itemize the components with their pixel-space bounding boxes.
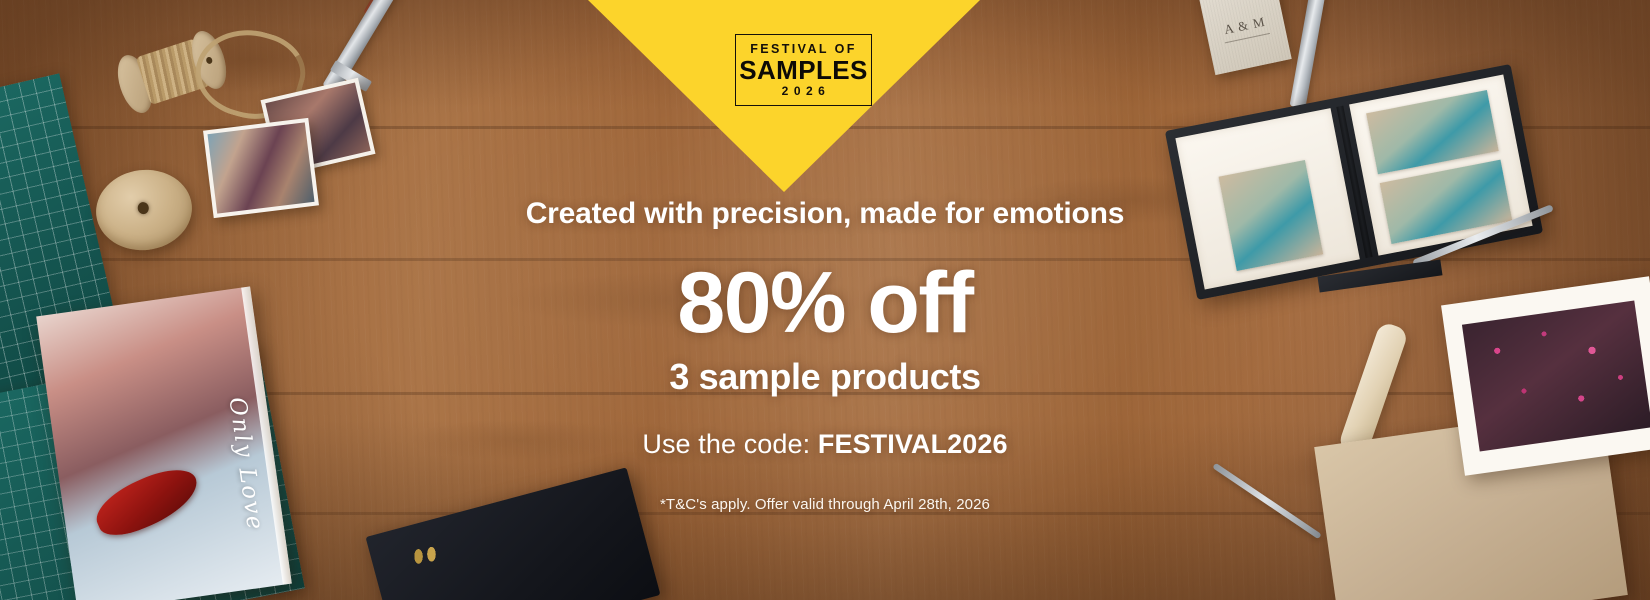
offer-subheadline: 3 sample products (0, 356, 1650, 397)
terms-fineprint: *T&C's apply. Offer valid through April … (0, 496, 1650, 513)
promo-code-value: FESTIVAL2026 (818, 429, 1008, 459)
festival-logo: FESTIVAL OF SAMPLES 2026 (735, 34, 872, 106)
promo-copy-block: Created with precision, made for emotion… (0, 196, 1650, 513)
album-photo-2 (1366, 90, 1498, 174)
promo-code-prefix: Use the code: (642, 429, 818, 459)
promo-banner: Only Love A & M FESTIVAL OF SAMPLES 2026 (0, 0, 1650, 600)
promo-code-line: Use the code: FESTIVAL2026 (0, 429, 1650, 460)
logo-festival-of: FESTIVAL OF (750, 43, 857, 56)
gold-leaf-emblem-icon (414, 544, 436, 568)
discount-headline: 80% off (0, 260, 1650, 346)
tagline: Created with precision, made for emotion… (0, 196, 1650, 232)
logo-samples: SAMPLES (739, 57, 867, 84)
logo-year: 2026 (777, 85, 831, 97)
